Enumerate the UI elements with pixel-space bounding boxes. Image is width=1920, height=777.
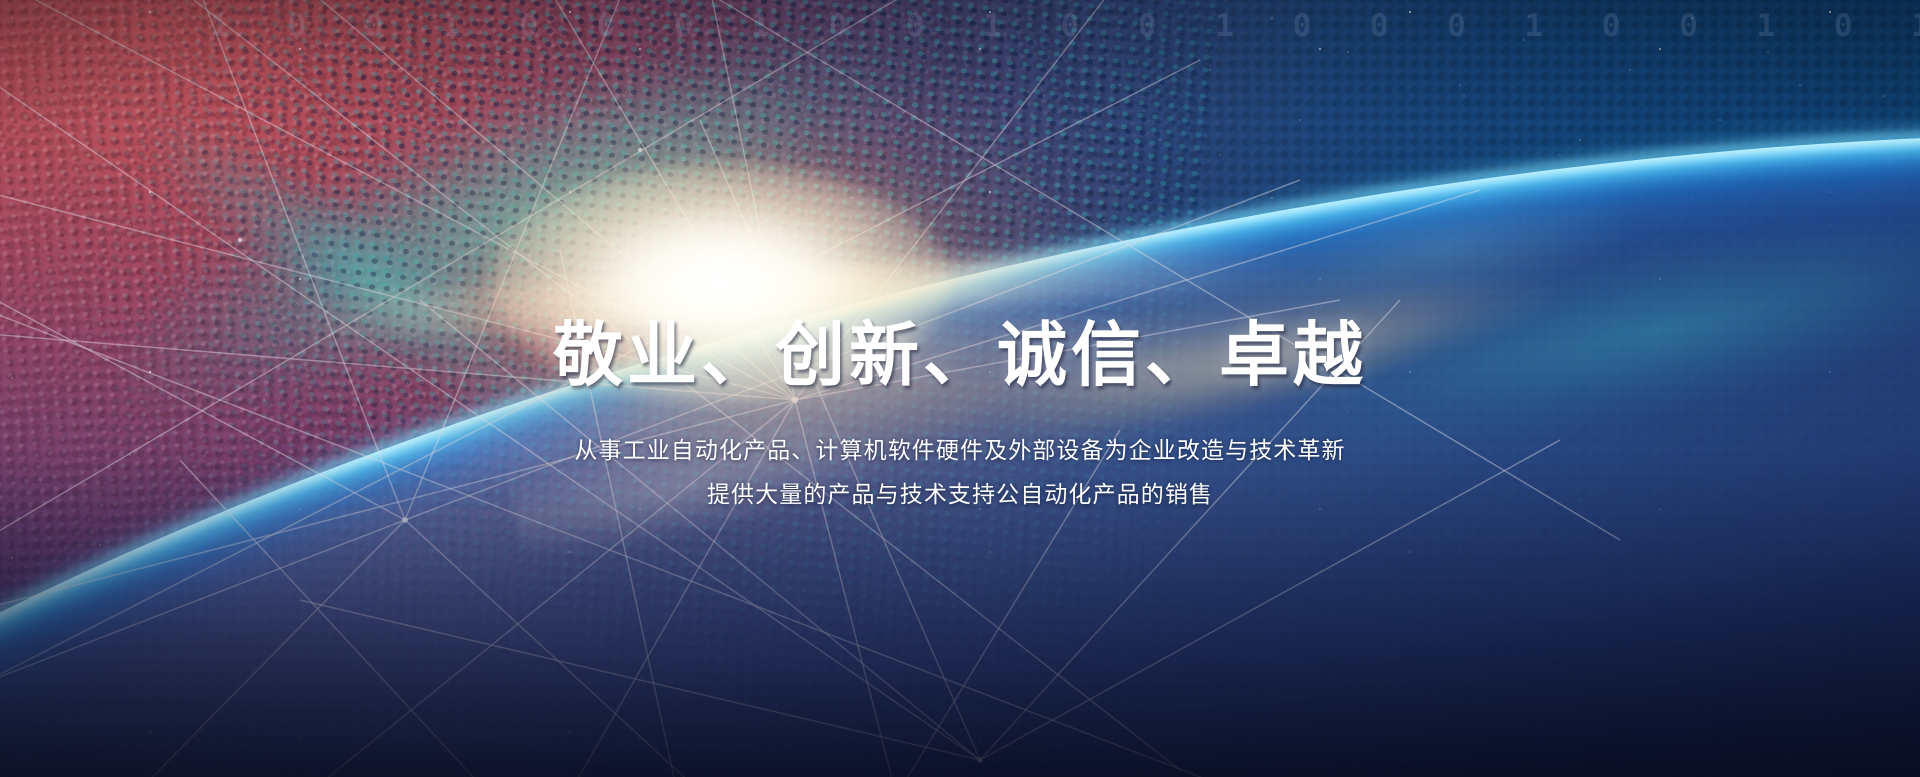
hero-headline: 敬业、创新、诚信、卓越 [0,318,1920,394]
hero-copy-block: 敬业、创新、诚信、卓越 从事工业自动化产品、计算机软件硬件及外部设备为企业改造与… [0,318,1920,517]
hero-subtitle-line-1: 从事工业自动化产品、计算机软件硬件及外部设备为企业改造与技术革新 [0,428,1920,473]
hero-banner: 1 0 0 1 0 0 0 1 0 0 1 0 0 1 0 0 0 1 0 0 … [0,0,1920,777]
binary-digits-strip: 1 0 0 1 0 0 0 1 0 0 1 0 0 1 0 0 0 1 0 0 … [0,6,1920,46]
hero-subtitle-line-2: 提供大量的产品与技术支持公自动化产品的销售 [0,472,1920,517]
